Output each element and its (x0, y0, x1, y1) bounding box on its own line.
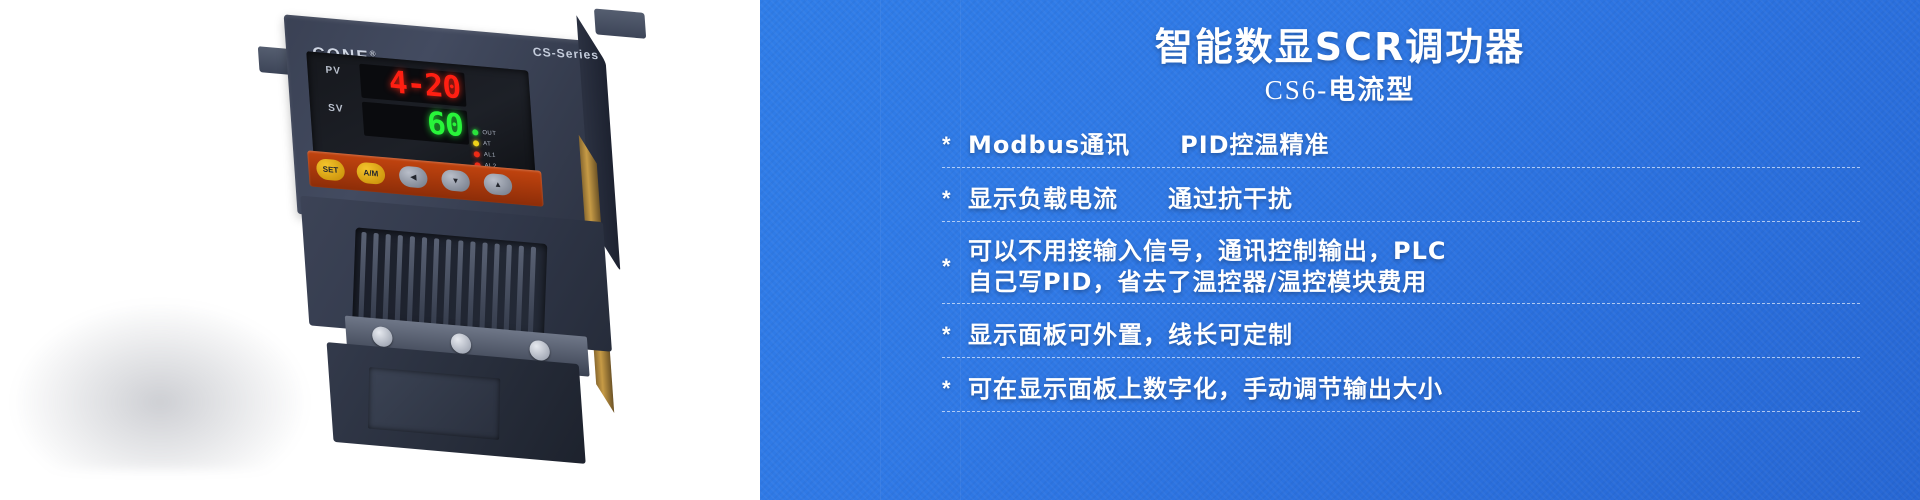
sv-display: 60 (362, 102, 469, 145)
model-code: CS6- (1265, 75, 1329, 105)
pv-display: 4-20 (359, 64, 466, 107)
led-icon-out (472, 129, 478, 136)
feature-text-block: Modbus通讯 PID控温精准 (968, 130, 1860, 161)
feature-text-block: 显示负载电流 通过抗干扰 (968, 184, 1860, 215)
feature-text-block: 显示面板可外置，线长可定制 (968, 320, 1860, 351)
feature-text-block: 可在显示面板上数字化，手动调节输出大小 (968, 374, 1860, 405)
scr-power-regulator-device: CQNE® CS-Series PV 4-20 SV 60 OUT (284, 0, 646, 489)
feature-line: Modbus通讯 PID控温精准 (968, 130, 1860, 161)
key-auto-manual[interactable]: A/M (356, 162, 386, 185)
key-set[interactable]: SET (316, 158, 346, 181)
feature-item-load-current: * 显示负载电流 通过抗干扰 (942, 182, 1860, 222)
mounting-ear-right (594, 8, 646, 38)
feature-item-remote-panel: * 显示面板可外置，线长可定制 (942, 318, 1860, 358)
feature-line: 显示面板可外置，线长可定制 (968, 320, 1860, 351)
busbar-screw (529, 340, 551, 362)
product-model-subtitle: CS6-电流型 (760, 68, 1920, 107)
sv-label: SV (328, 103, 344, 115)
product-banner: CQNE® CS-Series PV 4-20 SV 60 OUT (0, 0, 1920, 500)
bullet-star-icon: * (942, 188, 968, 210)
bullet-star-icon: * (942, 378, 968, 400)
busbar-screw (372, 326, 394, 348)
feature-item-modbus: * Modbus通讯 PID控温精准 (942, 128, 1860, 168)
feature-text-block: 可以不用接输入信号，通讯控制输出，PLC 自己写PID，省去了温控器/温控模块费… (968, 236, 1860, 298)
key-up[interactable]: ▲ (483, 173, 513, 196)
feature-list: * Modbus通讯 PID控温精准 * 显示负载电流 通过抗干扰 * 可以不用… (942, 128, 1860, 426)
bullet-star-icon: * (942, 256, 968, 278)
led-icon-at (473, 140, 479, 147)
model-type: 电流型 (1328, 75, 1415, 106)
key-down[interactable]: ▼ (441, 169, 471, 192)
product-shadow (10, 300, 310, 470)
led-icon-al1 (474, 151, 480, 158)
feature-item-manual-adjust: * 可在显示面板上数字化，手动调节输出大小 (942, 372, 1860, 412)
feature-line: 自己写PID，省去了温控器/温控模块费用 (968, 267, 1860, 298)
product-photo-pane: CQNE® CS-Series PV 4-20 SV 60 OUT (0, 0, 760, 500)
indicator-label: AT (483, 141, 492, 148)
busbar-screw (450, 333, 472, 355)
bullet-star-icon: * (942, 134, 968, 156)
pv-label: PV (325, 65, 341, 77)
feature-line: 可在显示面板上数字化，手动调节输出大小 (968, 374, 1860, 405)
feature-item-plc-control: * 可以不用接输入信号，通讯控制输出，PLC 自己写PID，省去了温控器/温控模… (942, 236, 1860, 304)
feature-line: 可以不用接输入信号，通讯控制输出，PLC (968, 236, 1860, 267)
page-title: 智能数显SCR调功器 (760, 16, 1920, 71)
key-left[interactable]: ◀ (398, 165, 428, 188)
terminal-tray-inner (368, 367, 500, 440)
pv-value: 4-20 (388, 64, 462, 106)
bullet-star-icon: * (942, 324, 968, 346)
sv-value: 60 (426, 105, 464, 144)
marketing-pane: 智能数显SCR调功器 CS6-电流型 * Modbus通讯 PID控温精准 * … (760, 0, 1920, 500)
feature-line: 显示负载电流 通过抗干扰 (968, 184, 1860, 215)
indicator-label: OUT (482, 130, 496, 137)
indicator-label: AL1 (484, 151, 496, 158)
